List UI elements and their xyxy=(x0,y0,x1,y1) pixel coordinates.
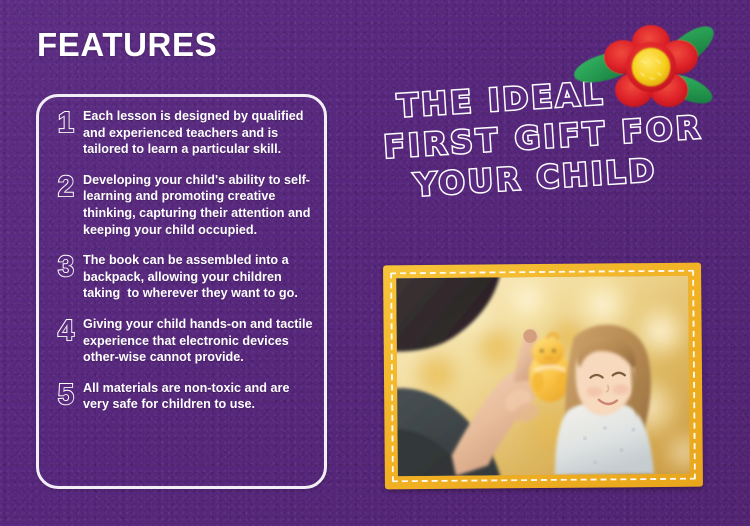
features-card: 1 Each lesson is designed by qualified a… xyxy=(36,94,327,489)
poster-canvas: FEATURES 1 Each lesson is designed by qu… xyxy=(0,0,750,526)
feature-text: The book can be assembled into a backpac… xyxy=(83,252,316,302)
feature-list: 1 Each lesson is designed by qualified a… xyxy=(49,108,316,413)
list-item: 4 Giving your child hands-on and tactile… xyxy=(49,316,316,366)
feature-number: 5 xyxy=(49,381,83,410)
feature-number: 4 xyxy=(49,317,83,346)
feature-number: 1 xyxy=(49,109,83,138)
feature-text: All materials are non-toxic and are very… xyxy=(83,380,316,413)
list-item: 5 All materials are non-toxic and are ve… xyxy=(49,380,316,413)
feature-number: 3 xyxy=(49,253,83,282)
photo-image xyxy=(396,276,690,477)
feature-text: Developing your child's ability to self-… xyxy=(83,172,316,238)
feature-text: Giving your child hands-on and tactile e… xyxy=(83,316,316,366)
feature-text: Each lesson is designed by qualified and… xyxy=(83,108,316,158)
list-item: 2 Developing your child's ability to sel… xyxy=(49,172,316,238)
feature-number: 2 xyxy=(49,173,83,202)
list-item: 3 The book can be assembled into a backp… xyxy=(49,252,316,302)
photo-frame xyxy=(383,263,703,490)
list-item: 1 Each lesson is designed by qualified a… xyxy=(49,108,316,158)
felt-flower-icon xyxy=(566,12,746,112)
page-title: FEATURES xyxy=(37,26,217,64)
